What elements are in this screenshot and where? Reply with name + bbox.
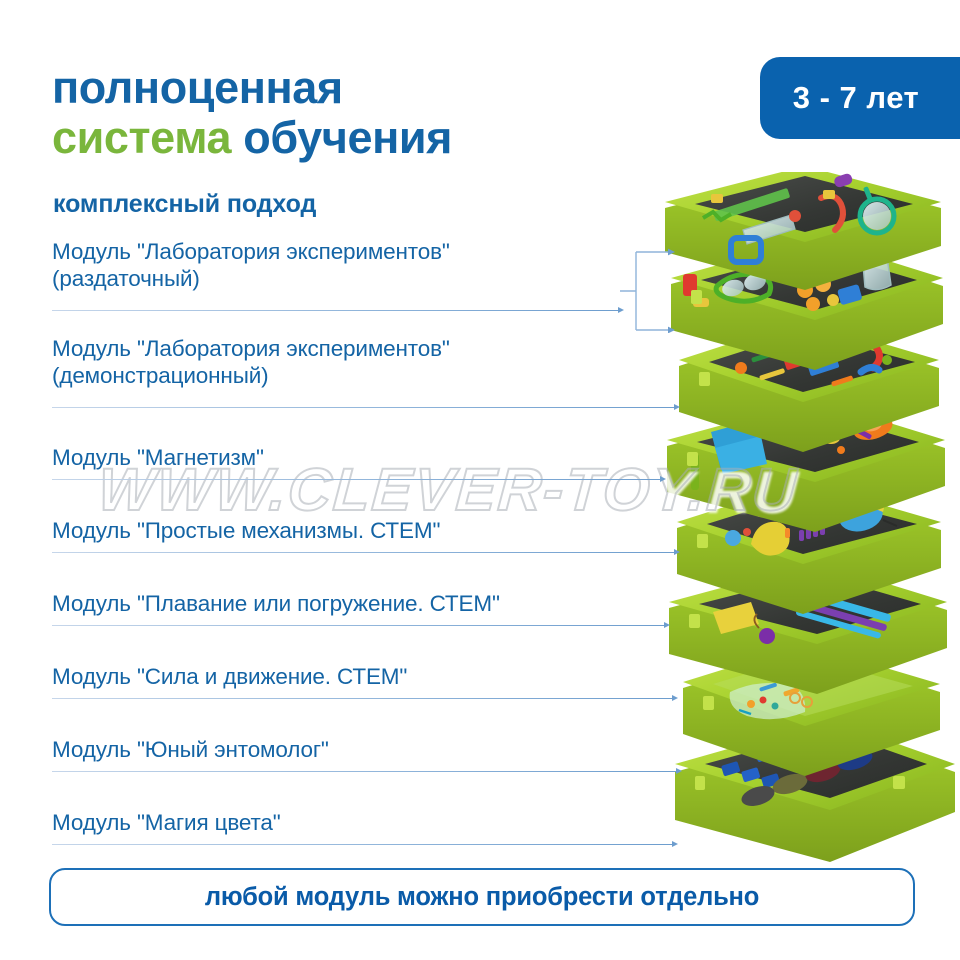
connector-arrow-icon xyxy=(672,841,678,847)
module-label: Модуль "Магия цвета" xyxy=(52,809,672,841)
module-group-bracket xyxy=(620,248,682,333)
module-label: Модуль "Лаборатория экспериментов" (разд… xyxy=(52,238,672,298)
module-label: Модуль "Простые механизмы. СТЕМ" xyxy=(52,517,672,549)
list-item[interactable]: Модуль "Лаборатория экспериментов" (демо… xyxy=(52,304,672,401)
list-item[interactable]: Модуль "Лаборатория экспериментов" (разд… xyxy=(52,238,672,304)
list-item[interactable]: Модуль "Простые механизмы. СТЕМ" xyxy=(52,479,672,552)
connector-arrow-icon xyxy=(672,695,678,701)
bottom-banner[interactable]: любой модуль можно приобрести отдельно xyxy=(49,868,915,926)
module-label: Модуль "Лаборатория экспериментов" (демо… xyxy=(52,335,672,395)
headline-word-obucheniya: обучения xyxy=(243,112,452,163)
list-item[interactable]: Модуль "Сила и движение. СТЕМ" xyxy=(52,625,672,698)
connector-7 xyxy=(52,841,674,850)
headline-line-1: полноценная xyxy=(52,63,452,113)
page-title: полноценная система обучения xyxy=(52,63,452,164)
list-item[interactable]: Модуль "Магнетизм" xyxy=(52,401,672,479)
age-range-badge: 3 - 7 лет xyxy=(760,57,960,139)
module-label: Модуль "Сила и движение. СТЕМ" xyxy=(52,663,672,695)
module-label: Модуль "Юный энтомолог" xyxy=(52,736,672,768)
module-label: Модуль "Магнетизм" xyxy=(52,444,672,476)
list-item[interactable]: Модуль "Магия цвета" xyxy=(52,771,672,844)
promo-page: 3 - 7 лет полноценная система обучения к… xyxy=(0,0,960,960)
product-photo-box-stack xyxy=(655,172,960,872)
headline-line-2: система обучения xyxy=(52,113,452,163)
headline-word-sistema: система xyxy=(52,112,231,163)
subheading: комплексный подход xyxy=(53,190,316,219)
connector-arrow-icon xyxy=(674,404,680,410)
list-item[interactable]: Модуль "Юный энтомолог" xyxy=(52,698,672,771)
connector-arrow-icon xyxy=(674,549,680,555)
connector-arrow-icon xyxy=(676,768,682,774)
headline-space xyxy=(231,112,243,163)
connector-line xyxy=(52,844,672,845)
module-label: Модуль "Плавание или погружение. СТЕМ" xyxy=(52,590,672,622)
age-range-label: 3 - 7 лет xyxy=(793,80,919,116)
list-item[interactable]: Модуль "Плавание или погружение. СТЕМ" xyxy=(52,552,672,625)
bottom-banner-label: любой модуль можно приобрести отдельно xyxy=(205,883,759,912)
module-list: Модуль "Лаборатория экспериментов" (разд… xyxy=(52,238,672,844)
